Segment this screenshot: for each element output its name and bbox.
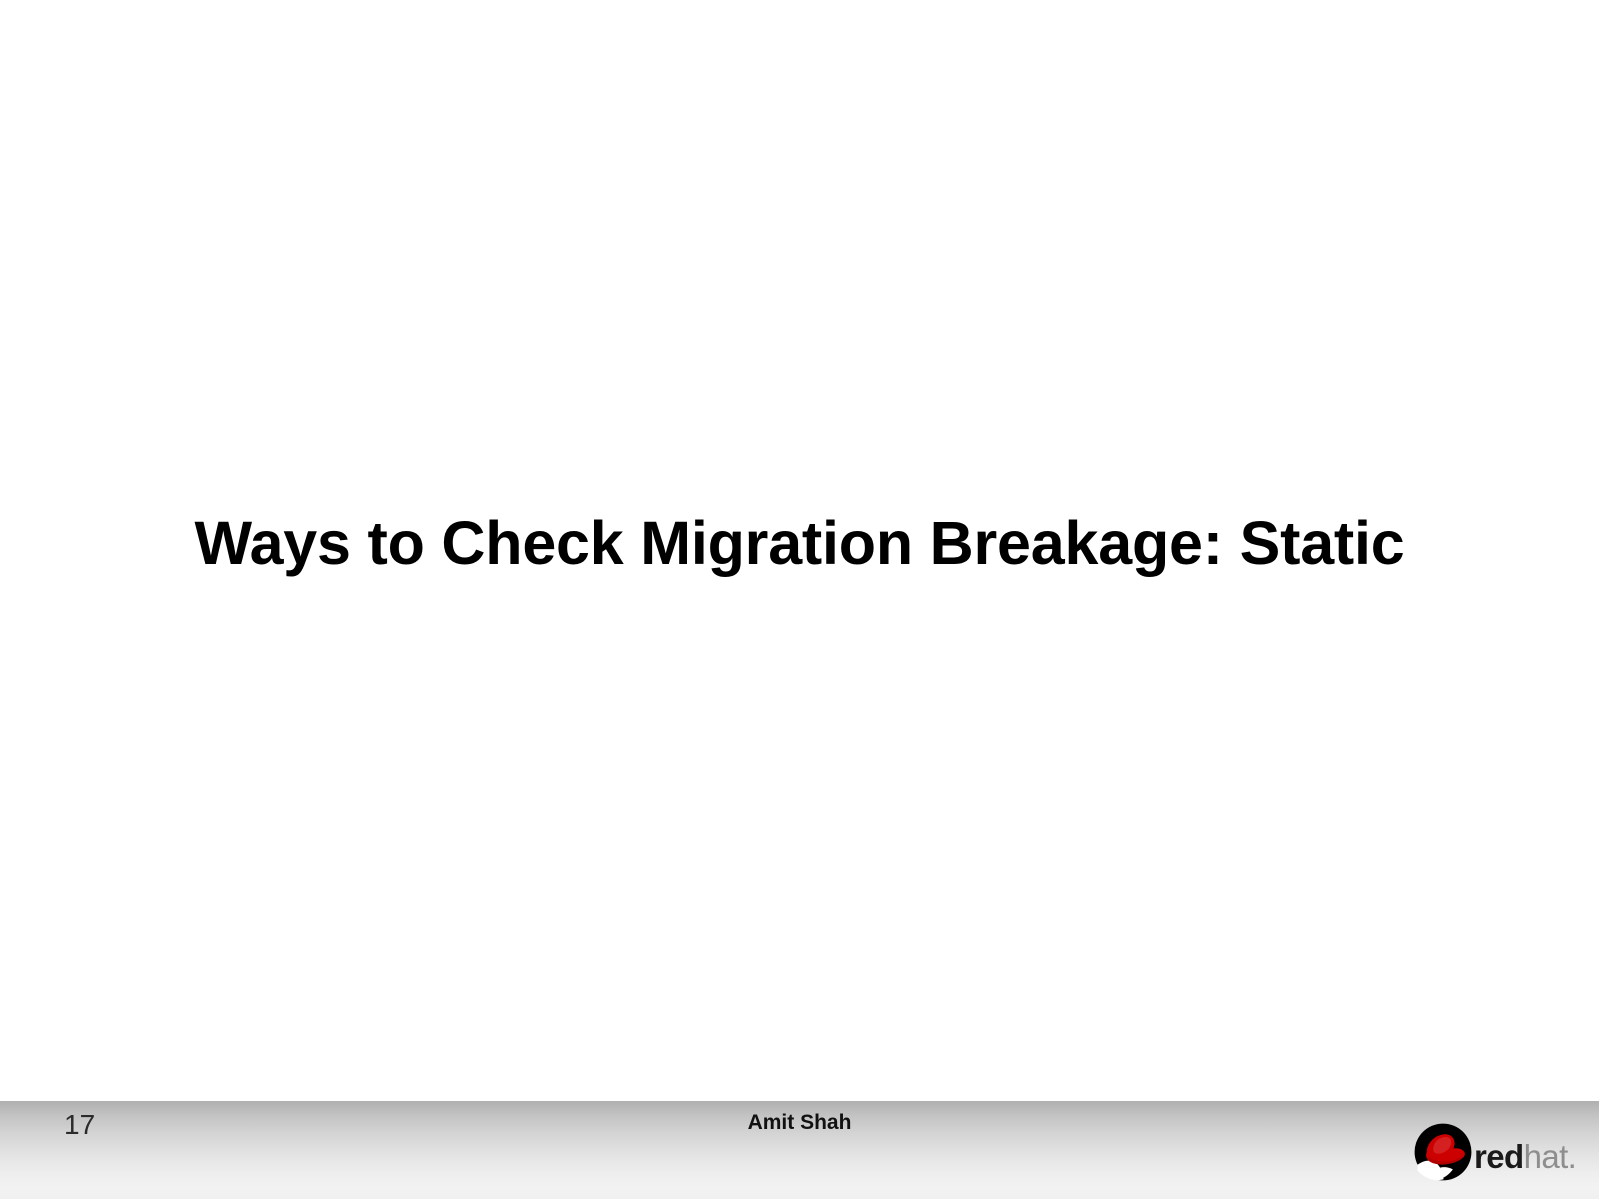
wordmark-hat: hat: [1524, 1138, 1568, 1175]
redhat-wordmark: redhat.: [1474, 1140, 1576, 1173]
slide-body: Ways to Check Migration Breakage: Static: [0, 0, 1599, 1101]
redhat-logo: redhat.: [1414, 1120, 1574, 1184]
presentation-slide: Ways to Check Migration Breakage: Static…: [0, 0, 1599, 1199]
slide-content-area: [120, 620, 1480, 1070]
slide-title: Ways to Check Migration Breakage: Static: [0, 505, 1599, 581]
wordmark-dot: .: [1568, 1138, 1577, 1175]
redhat-shadowman-icon: [1414, 1123, 1472, 1181]
footer-author-name: Amit Shah: [0, 1110, 1599, 1136]
wordmark-red: red: [1474, 1138, 1524, 1175]
